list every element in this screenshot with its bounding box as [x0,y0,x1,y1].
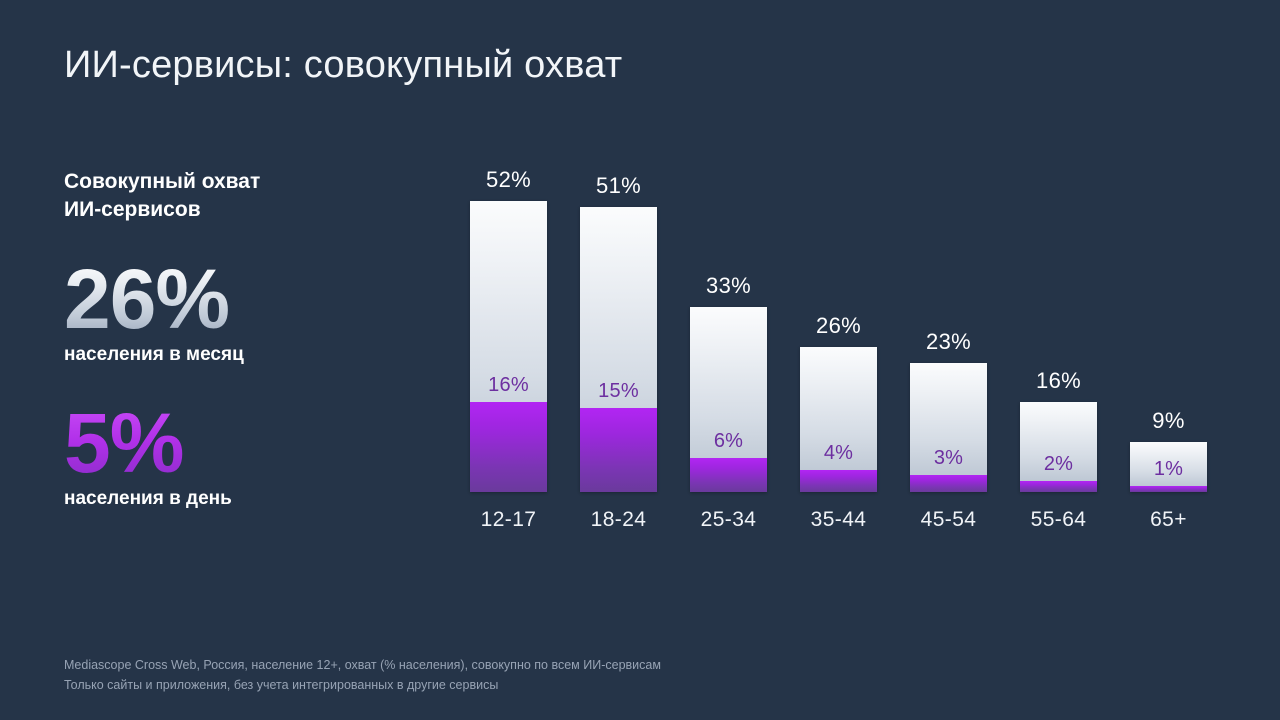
kpi-monthly-caption: населения в месяц [64,344,404,366]
chart-footnote: Mediascope Cross Web, Россия, население … [64,655,661,695]
bar-column[interactable] [800,347,877,493]
bar-daily-label: 6% [690,430,767,453]
kpi-daily-caption: населения в день [64,488,404,510]
bar-group[interactable]: 51%15%18-24 [580,207,657,492]
bar-daily-segment[interactable] [470,402,547,492]
bar-total-label: 26% [800,313,877,339]
bar-column[interactable] [470,201,547,492]
bar-group[interactable]: 16%2%55-64 [1020,402,1097,492]
slide-canvas: ИИ-сервисы: совокупный охват Совокупный … [0,0,1280,720]
bar-daily-label: 15% [580,380,657,403]
bar-group[interactable]: 26%4%35-44 [800,347,877,493]
bar-daily-label: 2% [1020,453,1097,476]
bar-category-label: 35-44 [788,508,889,532]
bar-total-label: 23% [910,329,987,355]
kpi-monthly-block: 26% населения в месяц [64,258,404,366]
kpi-monthly-value: 26% [64,258,229,340]
bar-daily-label: 1% [1130,458,1207,481]
bar-column[interactable] [1020,402,1097,492]
bar-group[interactable]: 33%6%25-34 [690,307,767,492]
bar-daily-segment[interactable] [1020,481,1097,492]
bar-category-label: 18-24 [568,508,669,532]
bar-daily-label: 3% [910,447,987,470]
bar-group[interactable]: 52%16%12-17 [470,201,547,492]
bar-daily-segment[interactable] [800,470,877,492]
bar-total-label: 33% [690,273,767,299]
bar-total-label: 52% [470,167,547,193]
kpi-daily-value: 5% [64,402,183,484]
kpi-daily-block: 5% населения в день [64,396,404,510]
bar-column[interactable] [910,363,987,492]
bar-daily-label: 16% [470,374,547,397]
bar-column[interactable] [690,307,767,492]
bar-daily-segment[interactable] [910,475,987,492]
bar-daily-segment[interactable] [1130,486,1207,492]
bar-column[interactable] [580,207,657,492]
bar-daily-label: 4% [800,442,877,465]
bar-daily-segment[interactable] [690,458,767,492]
page-title: ИИ-сервисы: совокупный охват [64,44,622,87]
bar-total-label: 51% [580,173,657,199]
bar-chart: 52%16%12-1751%15%18-2433%6%25-3426%4%35-… [440,150,1240,550]
bar-category-label: 45-54 [898,508,999,532]
kpi-panel: Совокупный охват ИИ-сервисов 26% населен… [64,168,404,510]
bar-total-label: 16% [1020,368,1097,394]
bar-daily-segment[interactable] [580,408,657,492]
bar-group[interactable]: 23%3%45-54 [910,363,987,492]
bar-category-label: 25-34 [678,508,779,532]
kpi-subtitle: Совокупный охват ИИ-сервисов [64,168,404,224]
bar-category-label: 65+ [1118,508,1219,532]
bar-group[interactable]: 9%1%65+ [1130,442,1207,492]
bar-category-label: 55-64 [1008,508,1109,532]
bar-total-label: 9% [1130,408,1207,434]
bar-category-label: 12-17 [458,508,559,532]
